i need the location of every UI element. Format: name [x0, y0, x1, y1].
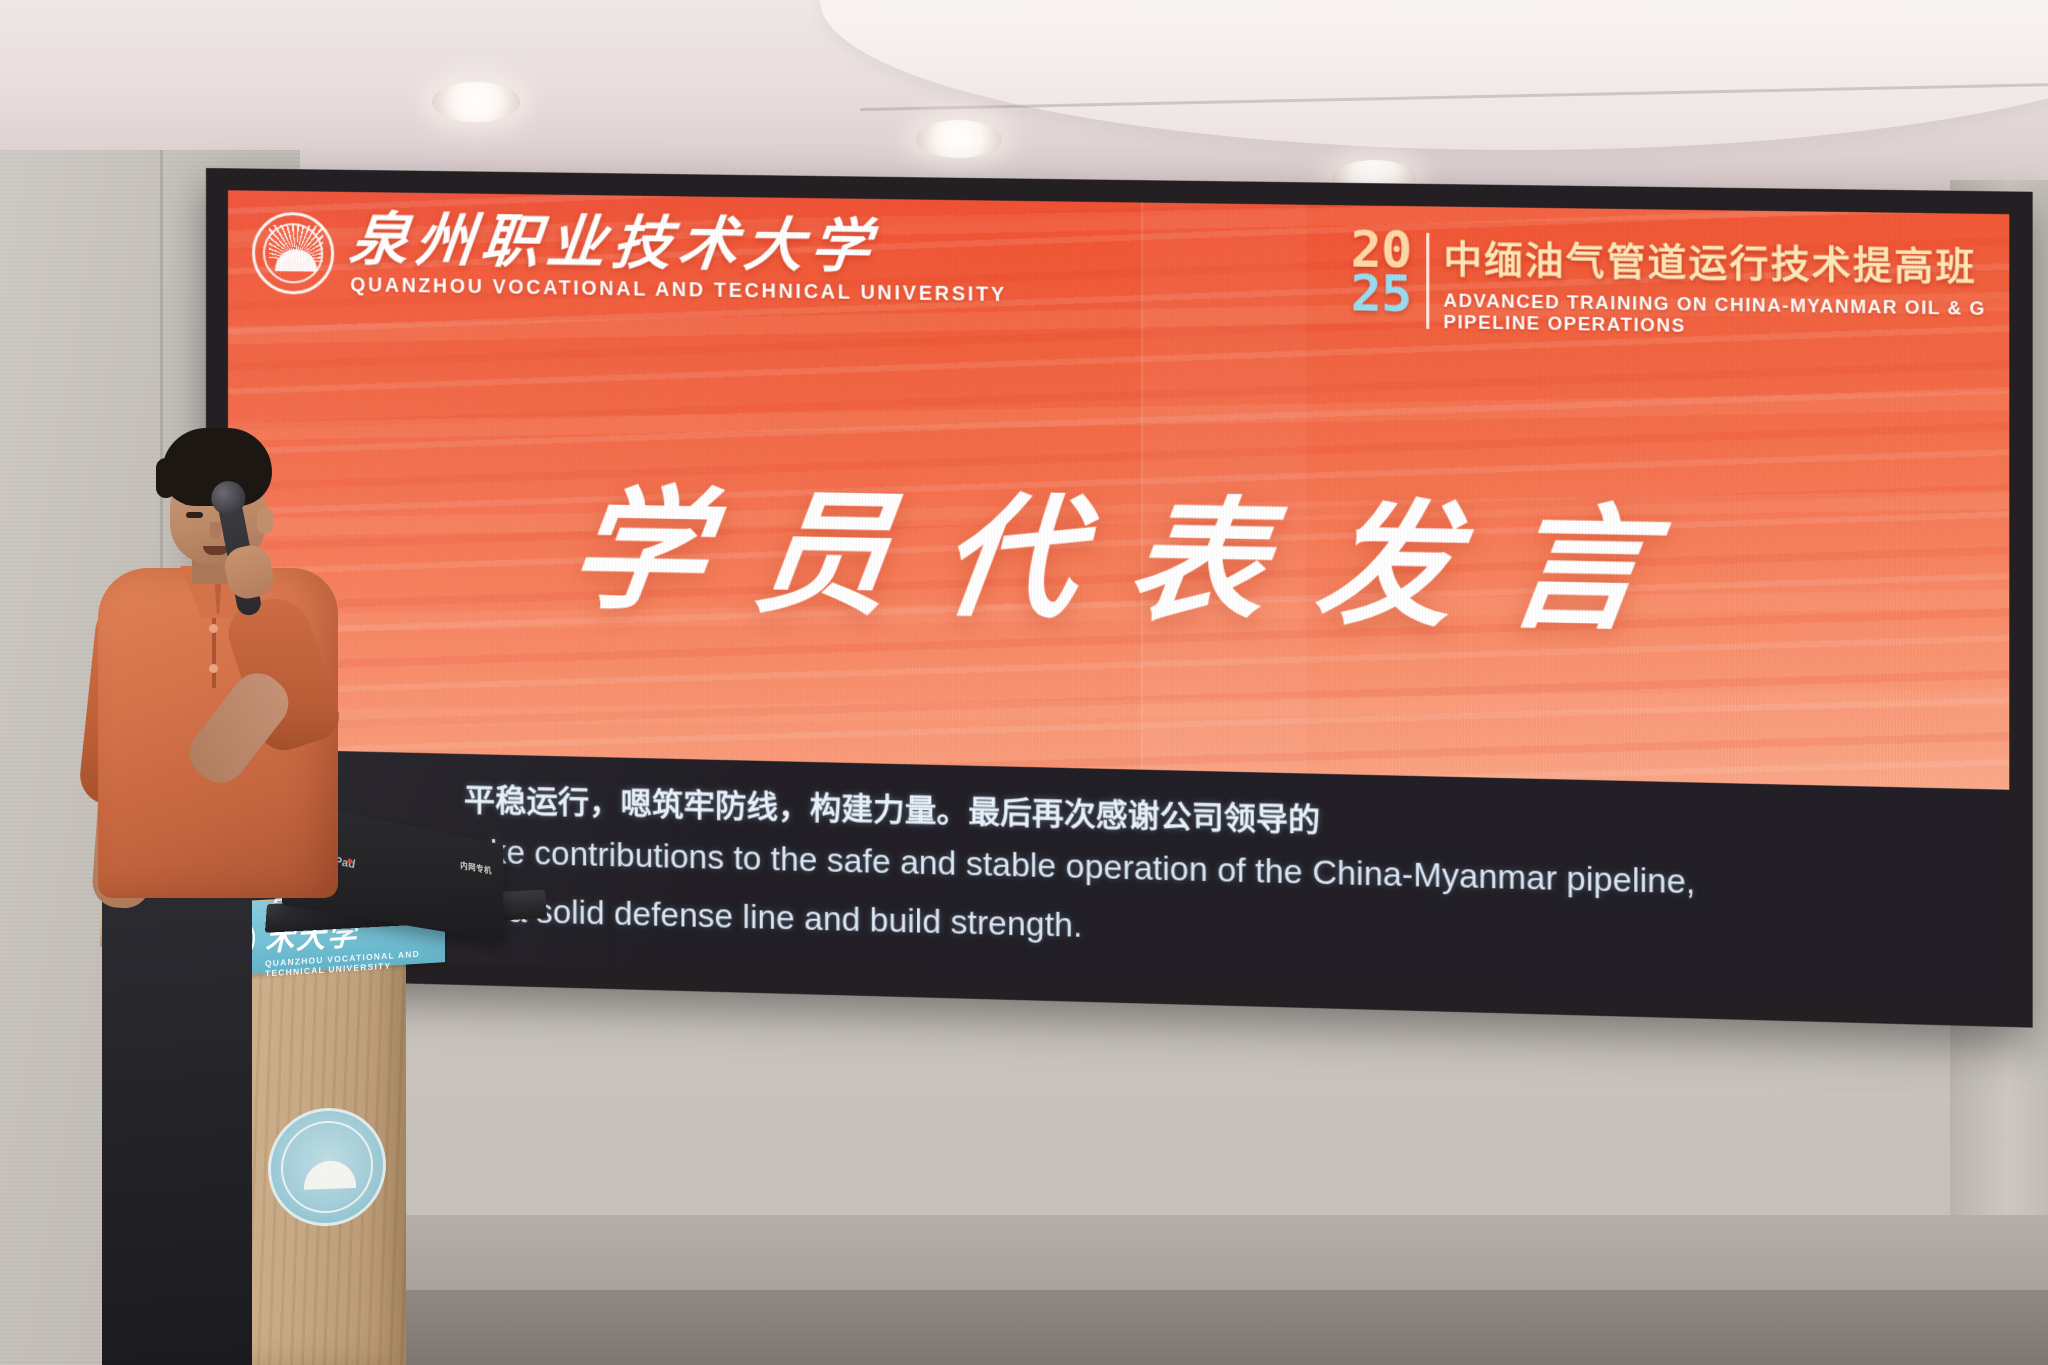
downlight-2-icon: [916, 120, 1002, 158]
downlight-1-icon: [432, 82, 520, 122]
speaker-nose: [210, 522, 221, 539]
conference-hall-scene: 泉州职业技术大学 QUANZHOU VOCATIONAL AND TECHNIC…: [0, 0, 2048, 1365]
speaker-trousers: [102, 880, 252, 1365]
shirt-button-1: [209, 624, 218, 633]
speaker-eye-left: [186, 512, 203, 518]
speaker-ear: [257, 508, 273, 534]
speaker-person: [92, 428, 392, 1365]
shirt-placket: [212, 608, 216, 688]
floor-band: [160, 1290, 2048, 1365]
shirt-button-2: [209, 664, 218, 673]
ceiling-curved-soffit: [820, 0, 2048, 150]
laptop-sticker-label: 内网专机: [460, 859, 492, 877]
